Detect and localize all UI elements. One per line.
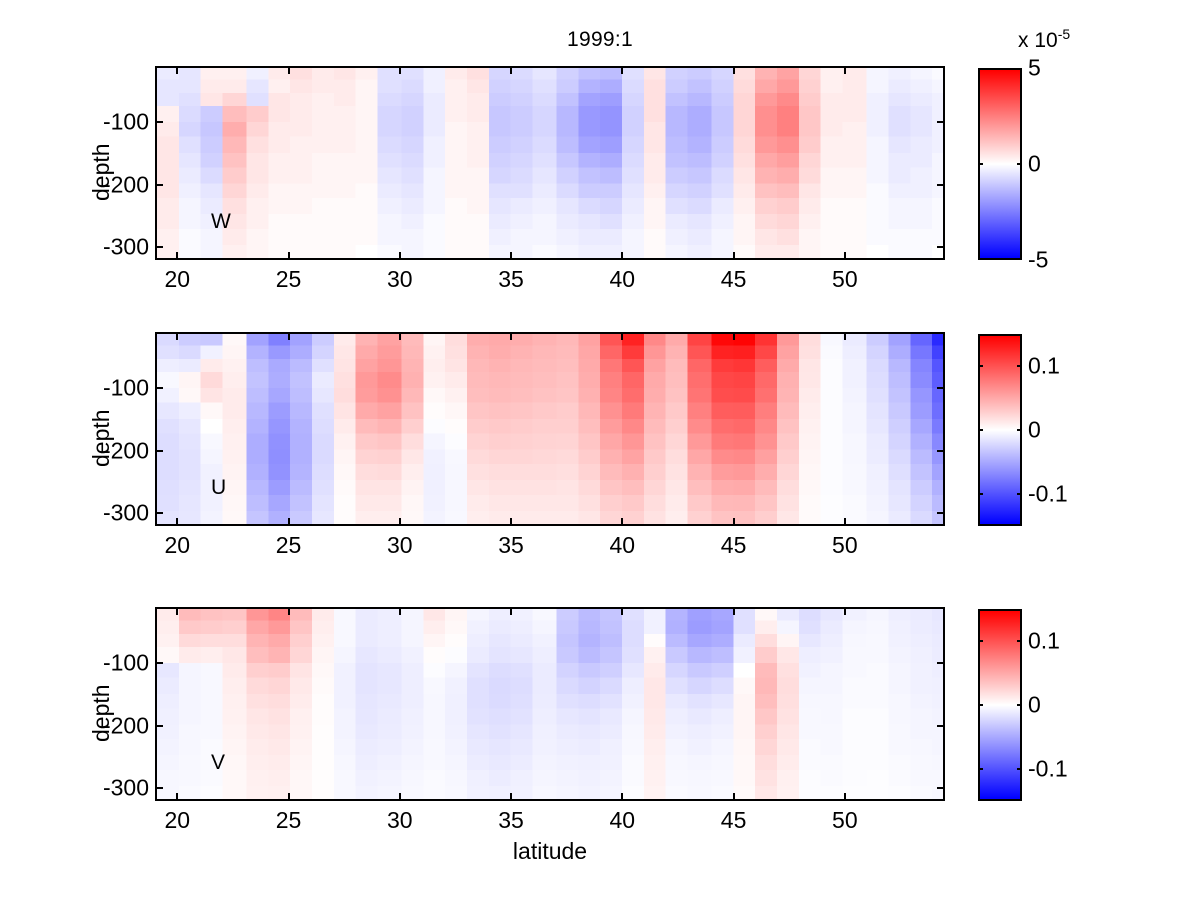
x-tick-label-u-25: 25 [276,532,302,559]
colorbar-tick-u-max-right [1017,365,1022,367]
x-tick-label-v-50: 50 [832,807,858,834]
y-tick-v--200 [157,725,163,727]
x-tick-label-w-50: 50 [832,266,858,293]
x-tick-label-w-40: 40 [610,266,636,293]
x-tick-v-40 [621,793,623,799]
x-tick-top-w-50 [844,68,846,74]
x-tick-top-u-35 [510,334,512,340]
x-tick-label-u-40: 40 [610,532,636,559]
colorbar-tick-label-u-min: -0.1 [1028,481,1068,508]
x-tick-top-v-40 [621,609,623,615]
colorbar-tick-label-v-min: -0.1 [1028,756,1068,783]
colorbar-tick-label-v-max: 0.1 [1028,628,1060,655]
colorbar-tick-u-zero-left [978,429,983,431]
x-tick-label-v-20: 20 [164,807,190,834]
x-tick-top-v-25 [288,609,290,615]
x-tick-top-w-20 [176,68,178,74]
y-tick-right-u--200 [937,450,943,452]
y-tick-w--200 [157,184,163,186]
colorbar-tick-w-zero-right [1017,163,1022,165]
colorbar-tick-v-max-right [1017,640,1022,642]
y-tick-label-u-neg100: -100 [97,375,149,402]
x-tick-top-u-30 [399,334,401,340]
x-tick-label-v-25: 25 [276,807,302,834]
x-tick-label-w-20: 20 [164,266,190,293]
x-tick-top-w-25 [288,68,290,74]
y-tick-right-v--300 [937,787,943,789]
x-tick-label-w-25: 25 [276,266,302,293]
x-tick-v-50 [844,793,846,799]
x-tick-top-u-25 [288,334,290,340]
x-tick-label-w-35: 35 [498,266,524,293]
x-tick-label-u-45: 45 [721,532,747,559]
colorbar-tick-u-zero-right [1017,429,1022,431]
x-tick-v-25 [288,793,290,799]
y-tick-w--100 [157,121,163,123]
colorbar-v[interactable] [978,609,1022,801]
x-tick-label-u-35: 35 [498,532,524,559]
x-tick-top-w-40 [621,68,623,74]
x-axis-label: latitude [513,838,587,865]
x-tick-u-30 [399,518,401,524]
x-tick-u-25 [288,518,290,524]
x-tick-top-v-45 [733,609,735,615]
heatmap-panel-w[interactable] [155,66,945,260]
y-axis-label-u: depth [88,409,115,467]
colorbar-tick-label-u-max: 0.1 [1028,353,1060,380]
figure-root: 1999:1 W U V 20253035404550-100-200-300d… [0,0,1200,900]
x-tick-w-30 [399,252,401,258]
colorbar-tick-label-w-zero: 0 [1028,151,1041,178]
x-tick-label-v-40: 40 [610,807,636,834]
y-tick-right-v--100 [937,662,943,664]
x-tick-w-25 [288,252,290,258]
x-tick-v-30 [399,793,401,799]
y-tick-label-v-neg100: -100 [97,650,149,677]
x-tick-top-w-35 [510,68,512,74]
x-tick-top-u-50 [844,334,846,340]
x-tick-w-50 [844,252,846,258]
x-tick-label-v-35: 35 [498,807,524,834]
x-tick-label-v-45: 45 [721,807,747,834]
colorbar-gradient-v [980,611,1020,799]
y-tick-right-w--200 [937,184,943,186]
x-tick-top-v-35 [510,609,512,615]
y-tick-label-v-neg300: -300 [97,775,149,802]
x-tick-top-w-45 [733,68,735,74]
y-tick-u--100 [157,387,163,389]
x-tick-u-50 [844,518,846,524]
y-tick-label-u-neg300: -300 [97,500,149,527]
panel-label-w: W [211,211,231,232]
x-tick-u-35 [510,518,512,524]
y-tick-right-w--300 [937,246,943,248]
y-tick-right-v--200 [937,725,943,727]
y-axis-label-w: depth [88,143,115,201]
x-tick-w-40 [621,252,623,258]
y-tick-right-u--100 [937,387,943,389]
x-tick-top-v-20 [176,609,178,615]
y-tick-right-u--300 [937,512,943,514]
colorbar-w[interactable] [978,68,1022,260]
x-tick-top-v-50 [844,609,846,615]
x-tick-w-20 [176,252,178,258]
x-tick-label-v-30: 30 [387,807,413,834]
x-tick-label-w-30: 30 [387,266,413,293]
colorbar-tick-w-zero-left [978,163,983,165]
colorbar-exponent-w: x 10-5 [1018,26,1070,53]
heatmap-panel-u[interactable] [155,332,945,526]
y-tick-label-w-neg100: -100 [97,109,149,136]
colorbar-tick-label-w-max: 5 [1028,55,1041,82]
x-tick-label-w-45: 45 [721,266,747,293]
x-tick-top-u-45 [733,334,735,340]
colorbar-tick-v-min-right [1017,768,1022,770]
x-tick-v-35 [510,793,512,799]
colorbar-tick-v-zero-right [1017,704,1022,706]
colorbar-tick-v-max-left [978,640,983,642]
colorbar-tick-u-min-right [1017,493,1022,495]
x-tick-label-u-20: 20 [164,532,190,559]
colorbar-gradient-u [980,336,1020,524]
colorbar-tick-label-w-min: -5 [1028,247,1048,274]
x-tick-top-v-30 [399,609,401,615]
x-tick-u-40 [621,518,623,524]
y-axis-label-v: depth [88,684,115,742]
y-tick-v--100 [157,662,163,664]
x-tick-label-u-30: 30 [387,532,413,559]
y-tick-v--300 [157,787,163,789]
y-tick-w--300 [157,246,163,248]
x-tick-u-20 [176,518,178,524]
x-tick-v-20 [176,793,178,799]
heatmap-panel-v[interactable] [155,607,945,801]
panel-label-u: U [211,477,226,498]
colorbar-u[interactable] [978,334,1022,526]
colorbar-exponent-value-w: -5 [1058,26,1070,42]
colorbar-tick-v-min-left [978,768,983,770]
x-tick-w-35 [510,252,512,258]
y-tick-u--300 [157,512,163,514]
x-tick-top-u-40 [621,334,623,340]
colorbar-tick-u-min-left [978,493,983,495]
colorbar-tick-label-v-zero: 0 [1028,692,1041,719]
colorbar-tick-v-zero-left [978,704,983,706]
colorbar-tick-label-u-zero: 0 [1028,417,1041,444]
y-tick-right-w--100 [937,121,943,123]
x-tick-label-u-50: 50 [832,532,858,559]
x-tick-top-w-30 [399,68,401,74]
x-tick-v-45 [733,793,735,799]
colorbar-exponent-prefix-w: x 10 [1018,29,1058,52]
x-tick-u-45 [733,518,735,524]
colorbar-tick-u-max-left [978,365,983,367]
colorbar-gradient-w [980,70,1020,258]
y-tick-label-w-neg300: -300 [97,234,149,261]
x-tick-top-u-20 [176,334,178,340]
x-tick-w-45 [733,252,735,258]
panel-label-v: V [211,752,225,773]
y-tick-u--200 [157,450,163,452]
